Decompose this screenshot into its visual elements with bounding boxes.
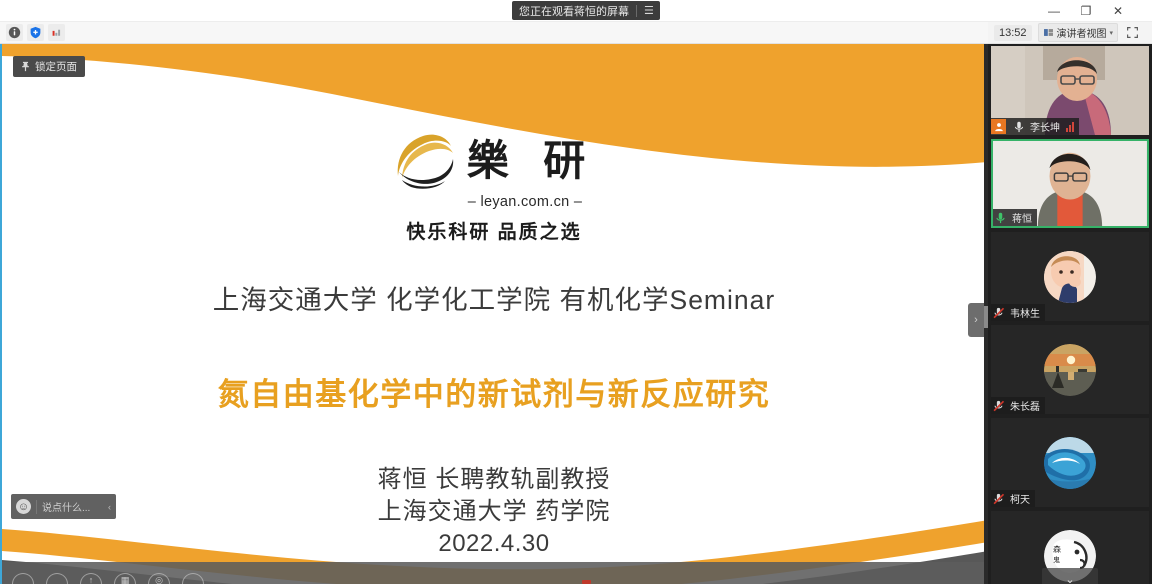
leyan-logo: 樂 研 – leyan.com.cn – 快乐科研 品质之选 xyxy=(2,132,986,244)
mic-icon xyxy=(993,210,1008,225)
slide-organization: 上海交通大学 化学化工学院 有机化学Seminar xyxy=(2,278,986,317)
close-glyph: ✕ xyxy=(1113,4,1123,18)
panel-divider[interactable] xyxy=(984,44,988,584)
participant-tile[interactable]: 韦林生 xyxy=(991,232,1149,321)
participant-tile[interactable]: 李长坤 xyxy=(991,46,1149,135)
avatar xyxy=(1044,251,1096,303)
mic-toolbar-icon[interactable] xyxy=(12,573,34,584)
speaker-view-icon xyxy=(1043,27,1054,38)
slide-date: 2022.4.30 xyxy=(2,528,986,560)
view-mode-label: 演讲者视图 xyxy=(1057,25,1107,40)
participant-namebar: 韦林生 xyxy=(991,304,1045,321)
window-titlebar: 您正在观看蒋恒的屏幕 ☰ — ❐ ✕ xyxy=(0,0,1152,22)
avatar xyxy=(1044,344,1096,396)
participant-name: 韦林生 xyxy=(1010,305,1040,320)
chat-toolbar-icon[interactable]: ▦ xyxy=(114,573,136,584)
zoom-meeting-window: 您正在观看蒋恒的屏幕 ☰ — ❐ ✕ xyxy=(0,0,1152,584)
shared-screen-area: 锁定页面 樂 研 – leyan.com.cn – 快乐科研 品质之选 上海交通… xyxy=(0,44,986,584)
chat-input-bar[interactable]: ☺ 说点什么... ‹ xyxy=(11,494,116,519)
participant-name: 蒋恒 xyxy=(1012,210,1032,225)
toast-divider xyxy=(636,5,637,17)
chevron-down-icon: ⌄ xyxy=(1065,573,1074,584)
lock-page-label: 锁定页面 xyxy=(35,59,77,74)
minimize-glyph: — xyxy=(1048,4,1060,18)
scroll-down-button[interactable]: ⌄ xyxy=(1042,568,1098,584)
video-toolbar-icon[interactable] xyxy=(46,573,68,584)
svg-text:森: 森 xyxy=(1053,544,1061,554)
speaker-name: 蒋恒 长聘教轨副教授 xyxy=(2,464,986,496)
participant-tile[interactable]: 森 鬼 ⌄ xyxy=(991,511,1149,584)
view-mode-dropdown[interactable]: 演讲者视图 ▾ xyxy=(1038,23,1119,42)
participant-namebar: 蒋恒 xyxy=(993,209,1037,226)
logo-row: 樂 研 xyxy=(393,132,596,190)
mic-muted-icon xyxy=(991,491,1006,506)
maximize-glyph: ❐ xyxy=(1081,4,1092,18)
participants-toolbar-icon[interactable]: ↑ xyxy=(80,573,102,584)
mic-muted-icon xyxy=(991,398,1006,413)
hamburger-icon[interactable]: ☰ xyxy=(644,4,653,17)
presentation-slide: 锁定页面 樂 研 – leyan.com.cn – 快乐科研 品质之选 上海交通… xyxy=(2,44,986,584)
collapse-panel-button[interactable]: › xyxy=(968,303,984,337)
lock-page-button[interactable]: 锁定页面 xyxy=(13,56,85,77)
slide-speaker-block: 蒋恒 长聘教轨副教授 上海交通大学 药学院 2022.4.30 xyxy=(2,464,986,560)
fullscreen-button[interactable] xyxy=(1124,26,1140,40)
window-close-button[interactable]: ✕ xyxy=(1104,2,1132,20)
audio-level-icon xyxy=(1066,122,1074,132)
chat-input-placeholder[interactable]: 说点什么... xyxy=(42,499,90,514)
divider-grip[interactable] xyxy=(984,306,988,328)
browser-subtoolbar xyxy=(0,22,988,44)
mic-muted-icon xyxy=(991,305,1006,320)
chevron-right-icon: › xyxy=(974,314,978,326)
slide-title: 氮自由基化学中的新试剂与新反应研究 xyxy=(2,369,986,414)
logo-tagline: 快乐科研 品质之选 xyxy=(406,217,581,244)
host-person-icon xyxy=(991,119,1006,134)
participant-tile[interactable]: 朱长磊 xyxy=(991,325,1149,414)
clock: 13:52 xyxy=(994,25,1032,41)
screenshare-toast: 您正在观看蒋恒的屏幕 ☰ xyxy=(512,1,660,20)
pin-icon xyxy=(21,61,30,72)
participant-tile[interactable]: 柯天 xyxy=(991,418,1149,507)
participant-namebar: 李长坤 xyxy=(991,118,1079,135)
participant-tile[interactable]: 蒋恒 xyxy=(991,139,1149,228)
leyan-mark-icon xyxy=(393,132,455,190)
share-toolbar-icon[interactable]: ◎ xyxy=(148,573,170,584)
shield-icon[interactable] xyxy=(27,24,44,41)
participant-name: 朱长磊 xyxy=(1010,398,1040,413)
info-icon[interactable] xyxy=(6,24,23,41)
participant-namebar: 柯天 xyxy=(991,490,1035,507)
chevron-down-icon: ▾ xyxy=(1110,29,1114,37)
mic-icon xyxy=(1011,119,1026,134)
participant-strip[interactable]: 李长坤 xyxy=(988,44,1152,584)
more-toolbar-icon[interactable] xyxy=(182,573,204,584)
stats-icon[interactable] xyxy=(48,24,65,41)
meeting-header-bar: 13:52 演讲者视图 ▾ xyxy=(988,22,1152,44)
logo-main-text: 樂 研 xyxy=(467,140,596,182)
chat-collapse-icon[interactable]: ‹ xyxy=(108,502,111,512)
svg-text:鬼: 鬼 xyxy=(1053,555,1060,564)
logo-url-text: – leyan.com.cn – xyxy=(468,194,582,210)
chat-divider xyxy=(36,500,37,514)
screenshare-toast-text: 您正在观看蒋恒的屏幕 xyxy=(519,3,629,19)
participant-name: 柯天 xyxy=(1010,491,1030,506)
participant-namebar: 朱长磊 xyxy=(991,397,1045,414)
meeting-bottom-toolbar: ↑ ▦ ◎ xyxy=(2,562,986,584)
end-meeting-indicator[interactable] xyxy=(582,580,591,584)
window-maximize-button[interactable]: ❐ xyxy=(1072,2,1100,20)
smiley-icon[interactable]: ☺ xyxy=(16,499,31,514)
window-minimize-button[interactable]: — xyxy=(1040,2,1068,20)
participant-name: 李长坤 xyxy=(1030,119,1060,134)
avatar xyxy=(1044,437,1096,489)
speaker-affiliation: 上海交通大学 药学院 xyxy=(2,496,986,528)
